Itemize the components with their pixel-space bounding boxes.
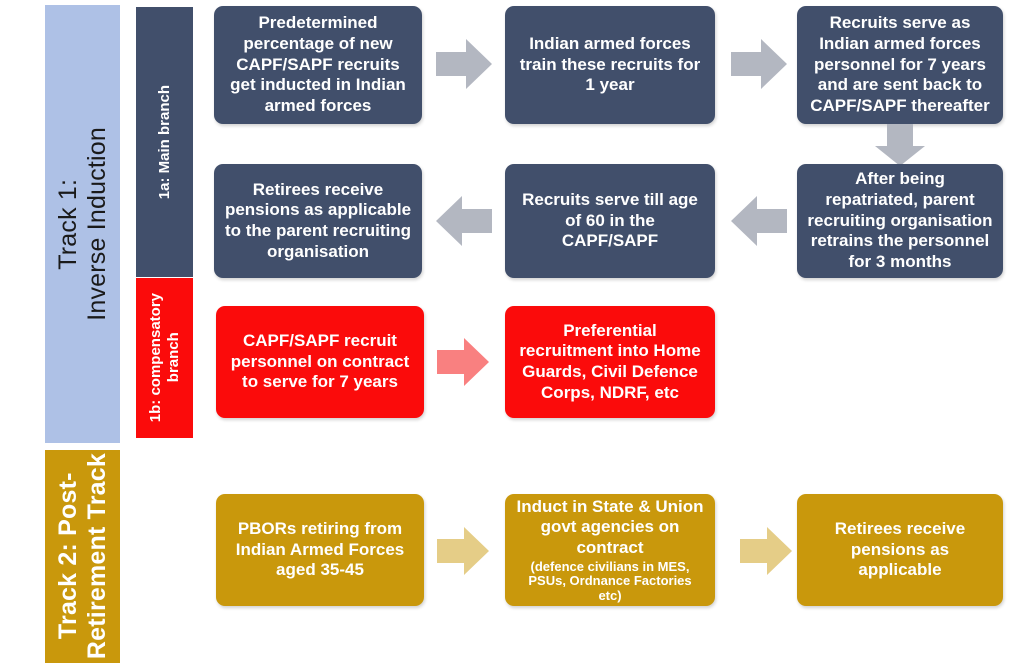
box-text: Recruits serve till age of 60 in the CAP…: [522, 190, 698, 252]
box-text: Recruits serve as Indian armed forces pe…: [810, 13, 989, 117]
process-box-retirees-pension-applicable: Retirees receive pensions as applicable: [797, 494, 1003, 606]
process-box-after-repatriation-retrain: After being repatriated, parent recruiti…: [797, 164, 1003, 278]
box-text: Indian armed forces train these recruits…: [520, 34, 700, 96]
box-text: Induct in State & Union govt agencies on…: [517, 497, 704, 559]
process-box-induct-state-union-agencies: Induct in State & Union govt agencies on…: [505, 494, 715, 606]
branch-1b-label-bar: 1b: compensatory branch: [136, 278, 193, 438]
box-text: Predetermined percentage of new CAPF/SAP…: [230, 13, 406, 117]
track-1-label-bar: Track 1: Inverse Induction: [45, 5, 120, 443]
box-text: After being repatriated, parent recruiti…: [807, 169, 992, 273]
box-text: Retirees receive pensions as applicable …: [225, 180, 411, 263]
process-box-serve-till-age-60: Recruits serve till age of 60 in the CAP…: [505, 164, 715, 278]
track-2-label-bar: Track 2: Post- Retirement Track: [45, 450, 120, 663]
process-box-retirees-pension-parent-org: Retirees receive pensions as applicable …: [214, 164, 422, 278]
branch-1a-label-bar: 1a: Main branch: [136, 7, 193, 277]
branch-1a-label: 1a: Main branch: [156, 85, 173, 199]
box-text: Retirees receive pensions as applicable: [807, 519, 993, 581]
box-subtext: (defence civilians in MES, PSUs, Ordnanc…: [528, 560, 691, 604]
arrow-down-icon: [874, 124, 926, 166]
track-2-label: Track 2: Post- Retirement Track: [54, 453, 112, 659]
arrow-left-icon: [436, 195, 492, 247]
process-box-pbors-retiring: PBORs retiring from Indian Armed Forces …: [216, 494, 424, 606]
process-box-armed-forces-train: Indian armed forces train these recruits…: [505, 6, 715, 124]
process-box-predetermined-percentage: Predetermined percentage of new CAPF/SAP…: [214, 6, 422, 124]
arrow-right-icon: [740, 526, 792, 576]
arrow-right-icon: [437, 337, 489, 387]
box-text: CAPF/SAPF recruit personnel on contract …: [231, 331, 410, 393]
process-box-preferential-recruitment: Preferential recruitment into Home Guard…: [505, 306, 715, 418]
process-box-capf-contract-seven-years: CAPF/SAPF recruit personnel on contract …: [216, 306, 424, 418]
arrow-right-icon: [437, 526, 489, 576]
track-1-label: Track 1: Inverse Induction: [54, 127, 112, 321]
arrow-right-icon: [436, 38, 492, 90]
branch-1b-label: 1b: compensatory branch: [147, 293, 183, 422]
box-text: Preferential recruitment into Home Guard…: [519, 321, 700, 404]
process-box-recruits-serve-seven-years: Recruits serve as Indian armed forces pe…: [797, 6, 1003, 124]
arrow-right-icon: [731, 38, 787, 90]
diagram-canvas: Track 1: Inverse Induction Track 2: Post…: [0, 0, 1024, 663]
box-text: PBORs retiring from Indian Armed Forces …: [236, 519, 404, 581]
arrow-left-icon: [731, 195, 787, 247]
